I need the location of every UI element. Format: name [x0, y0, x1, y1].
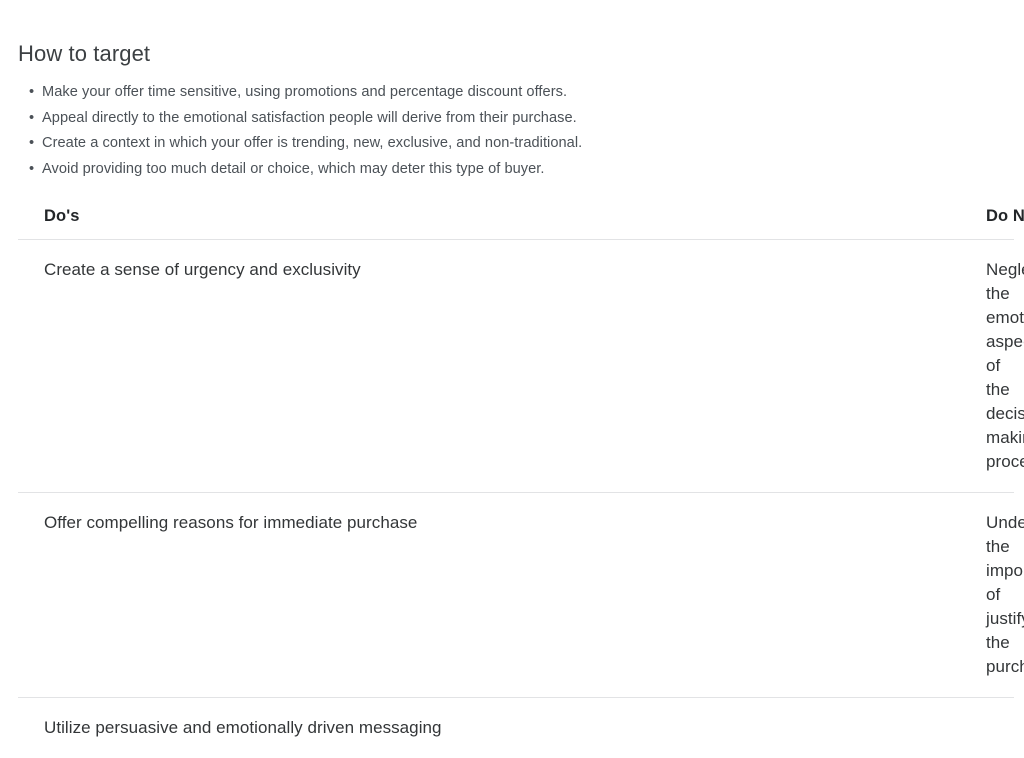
bullet-point-icon: •: [29, 131, 34, 157]
list-item-text: Avoid providing too much detail or choic…: [42, 161, 545, 177]
list-item-text: Appeal directly to the emotional satisfa…: [42, 110, 577, 126]
bullet-point-icon: •: [29, 157, 34, 183]
list-item: • Appeal directly to the emotional satis…: [18, 106, 978, 132]
table-body: Create a sense of urgency and exclusivit…: [18, 240, 1014, 758]
column-header-donts: Do Not's: [502, 205, 1014, 240]
cell-dos: Utilize persuasive and emotionally drive…: [18, 698, 502, 758]
table-row: Offer compelling reasons for immediate p…: [18, 493, 1014, 698]
table-row: Utilize persuasive and emotionally drive…: [18, 698, 1014, 758]
table-header: Do's Do Not's: [18, 205, 1014, 240]
list-item: • Avoid providing too much detail or cho…: [18, 157, 978, 183]
targeting-tips-list: • Make your offer time sensitive, using …: [18, 80, 978, 182]
column-header-dos: Do's: [18, 205, 502, 240]
cell-donts: Underestimate the importance of justifyi…: [502, 493, 1014, 698]
table-header-row: Do's Do Not's: [18, 205, 1014, 240]
list-item: • Make your offer time sensitive, using …: [18, 80, 978, 106]
list-item-text: Make your offer time sensitive, using pr…: [42, 84, 567, 100]
bullet-point-icon: •: [29, 106, 34, 132]
cell-donts: Neglect the emotional aspect of the deci…: [502, 240, 1014, 493]
list-item: • Create a context in which your offer i…: [18, 131, 978, 157]
cell-dos: Offer compelling reasons for immediate p…: [18, 493, 502, 698]
dos-and-donts-table: Do's Do Not's Create a sense of urgency …: [18, 205, 1014, 758]
table-row: Create a sense of urgency and exclusivit…: [18, 240, 1014, 493]
cell-donts: [502, 698, 1014, 758]
page-title: How to target: [18, 40, 150, 68]
bullet-point-icon: •: [29, 80, 34, 106]
content-page: How to target • Make your offer time sen…: [0, 0, 1024, 508]
list-item-text: Create a context in which your offer is …: [42, 135, 582, 151]
cell-dos: Create a sense of urgency and exclusivit…: [18, 240, 502, 493]
